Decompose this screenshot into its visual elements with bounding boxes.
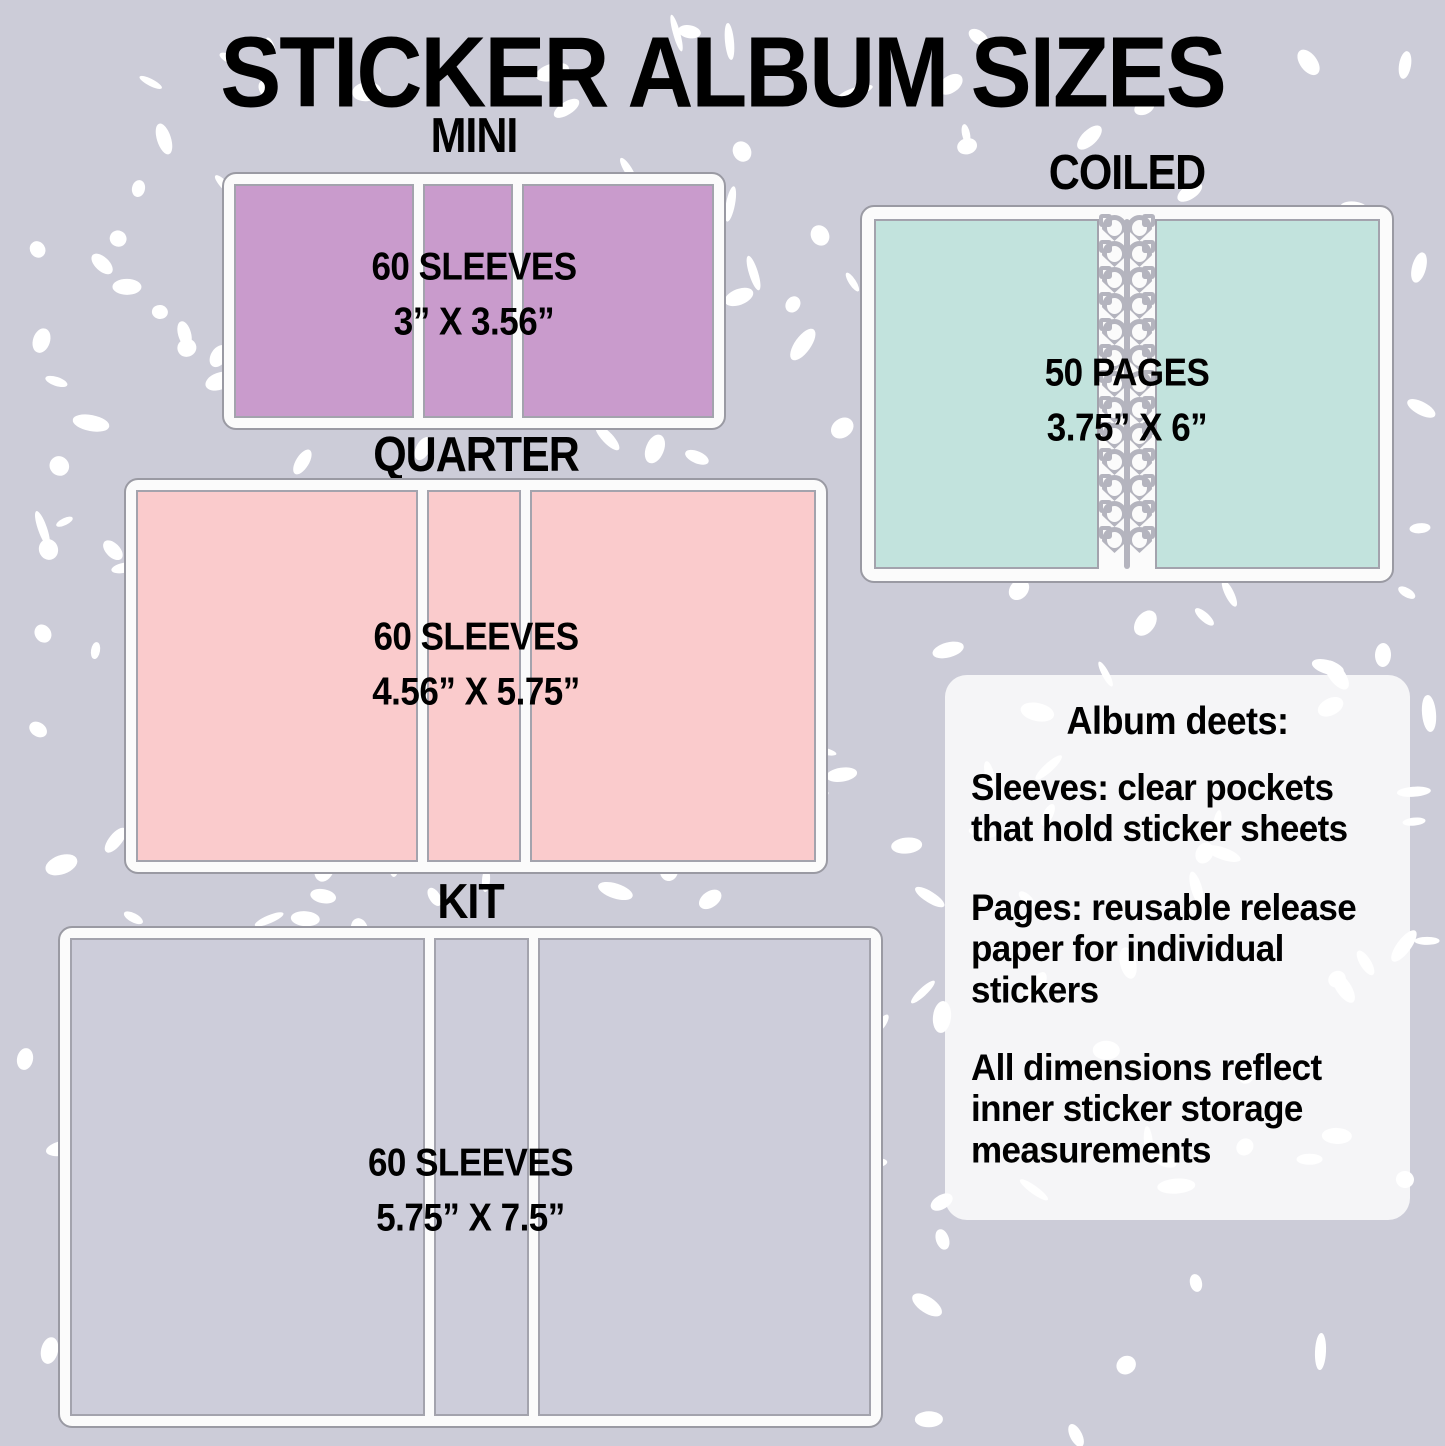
album-kit (58, 926, 883, 1428)
confetti-fleck (43, 850, 80, 878)
confetti-fleck (55, 515, 74, 529)
confetti-fleck (99, 537, 126, 564)
coil-ring (1099, 525, 1155, 555)
confetti-fleck (36, 536, 61, 562)
coil-binding (1099, 219, 1155, 569)
confetti-fleck (722, 284, 756, 310)
coil-tab-right (1142, 370, 1155, 383)
section-label-quarter: QUARTER (124, 431, 828, 480)
confetti-fleck (45, 453, 73, 481)
album-kit-panel-right (538, 938, 871, 1416)
confetti-fleck (912, 883, 946, 911)
confetti-fleck (909, 1289, 946, 1321)
coil-arc-left (1102, 475, 1127, 501)
confetti-fleck (914, 1411, 942, 1427)
confetti-fleck (1065, 1421, 1087, 1446)
confetti-fleck (1314, 1332, 1326, 1369)
confetti-fleck (1414, 937, 1439, 945)
album-mini-panel-left (234, 184, 414, 418)
confetti-fleck (744, 255, 764, 292)
coil-tab-right (1142, 396, 1155, 409)
album-quarter-panel-left (136, 490, 418, 862)
confetti-fleck (27, 238, 49, 260)
confetti-fleck (1112, 1352, 1139, 1378)
confetti-fleck (30, 326, 54, 355)
coil-arc-left (1102, 215, 1127, 241)
confetti-fleck (107, 227, 129, 249)
confetti-fleck (807, 222, 833, 249)
confetti-fleck (1188, 1273, 1204, 1293)
confetti-fleck (730, 138, 756, 165)
coil-tab-right (1142, 292, 1155, 305)
coil-arc-left (1102, 423, 1127, 449)
album-kit-panel-left (70, 938, 425, 1416)
confetti-fleck (825, 766, 857, 784)
coil-arc-left (1102, 319, 1127, 345)
section-label-coiled: COILED (860, 149, 1394, 198)
coil-tab-right (1142, 344, 1155, 357)
coil-tab-right (1142, 500, 1155, 513)
confetti-fleck (1404, 396, 1437, 422)
confetti-fleck (1375, 643, 1392, 668)
coil-arc-left (1102, 293, 1127, 319)
confetti-fleck (786, 325, 820, 364)
confetti-fleck (26, 719, 49, 741)
confetti-fleck (72, 412, 111, 434)
coil-arc-left (1102, 241, 1127, 267)
album-quarter-panel-spine (427, 490, 521, 862)
confetti-fleck (933, 1227, 952, 1251)
confetti-fleck (130, 178, 146, 197)
confetti-fleck (891, 836, 923, 854)
coil-arc-left (1102, 371, 1127, 397)
album-deets-item-dimensions: All dimensions reflect inner sticker sto… (971, 1047, 1384, 1172)
album-mini (222, 172, 726, 430)
coil-arc-left (1102, 345, 1127, 371)
coil-tab-right (1142, 240, 1155, 253)
confetti-fleck (908, 978, 937, 1006)
coil-tab-right (1142, 448, 1155, 461)
confetti-fleck (1408, 251, 1429, 285)
page-title: STICKER ALBUM SIZES (0, 22, 1445, 122)
album-deets-item-pages: Pages: reusable release paper for indivi… (971, 887, 1384, 1012)
coil-arc-left (1102, 501, 1127, 527)
confetti-fleck (89, 641, 100, 660)
confetti-fleck (931, 639, 965, 661)
confetti-fleck (112, 279, 142, 296)
section-label-kit: KIT (58, 878, 883, 927)
confetti-fleck (152, 121, 175, 156)
confetti-fleck (1396, 584, 1417, 602)
album-deets-card: Album deets: Sleeves: clear pockets that… (945, 675, 1410, 1220)
coil-tab-right (1142, 214, 1155, 227)
confetti-fleck (15, 1047, 35, 1072)
confetti-fleck (88, 250, 116, 278)
poster-canvas: STICKER ALBUM SIZES MINI 60 SLEEVES 3” X… (0, 0, 1445, 1446)
album-quarter (124, 478, 828, 874)
coil-arc-left (1102, 267, 1127, 293)
confetti-fleck (175, 336, 199, 359)
confetti-fleck (827, 413, 857, 442)
section-label-mini: MINI (222, 112, 726, 161)
coil-tab-right (1142, 318, 1155, 331)
coil-arc-left (1102, 527, 1127, 553)
confetti-fleck (1129, 607, 1160, 640)
coil-tab-right (1142, 526, 1155, 539)
confetti-fleck (1421, 695, 1438, 733)
album-coiled-page-left (874, 219, 1099, 569)
coil-tab-right (1142, 422, 1155, 435)
album-mini-panel-right (522, 184, 714, 418)
album-coiled (860, 205, 1394, 583)
album-coiled-page-right (1155, 219, 1380, 569)
coil-arc-left (1102, 397, 1127, 423)
album-quarter-panel-right (530, 490, 816, 862)
coil-tab-right (1142, 474, 1155, 487)
coil-arc-left (1102, 449, 1127, 475)
confetti-fleck (32, 510, 53, 548)
confetti-fleck (1193, 606, 1217, 629)
confetti-fleck (31, 622, 55, 647)
confetti-fleck (783, 293, 804, 315)
album-deets-title: Album deets: (971, 699, 1384, 742)
album-mini-panel-spine (423, 184, 513, 418)
confetti-fleck (151, 304, 169, 320)
album-deets-item-sleeves: Sleeves: clear pockets that hold sticker… (971, 767, 1384, 850)
confetti-fleck (44, 373, 69, 389)
album-kit-panel-spine (434, 938, 529, 1416)
confetti-fleck (1409, 522, 1431, 534)
confetti-fleck (174, 319, 193, 347)
coil-tab-right (1142, 266, 1155, 279)
